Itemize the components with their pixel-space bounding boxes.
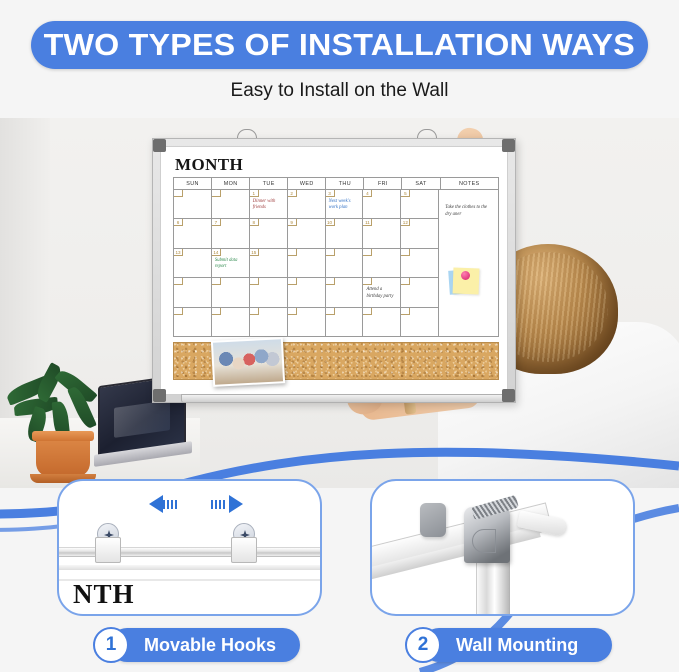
calendar-weeks: 1Dinner with friends23Next week's work p… [174,190,439,336]
movable-hook-left [95,523,121,563]
calendar-day-cell[interactable] [288,308,326,336]
calendar-day-cell[interactable]: 3Next week's work plan [326,190,364,218]
calendar-body: 1Dinner with friends23Next week's work p… [173,190,499,337]
pinned-family-photo [211,337,285,387]
calendar-grid: SUN MON TUE WED THU FRI SAT NOTES 1Dinne… [173,177,499,337]
day-number [363,308,372,315]
calendar-day-cell[interactable] [250,278,288,306]
day-number: 15 [250,249,259,256]
notes-text: Take the clothes to the dry aner [445,204,494,218]
calendar-day-cell[interactable] [401,308,439,336]
arrow-right-icon [229,495,243,513]
calendar-day-cell[interactable] [174,190,212,218]
hook-body [95,537,121,563]
panel-number-1: 1 [93,627,129,663]
day-number: 2 [288,190,297,197]
day-number [401,278,410,285]
frame-corner [502,139,515,152]
calendar-week-row: 1Dinner with friends23Next week's work p… [174,190,439,219]
calendar-day-cell[interactable] [326,308,364,336]
day-number: 4 [363,190,372,197]
calendar-day-cell[interactable]: 11 [363,219,401,247]
calendar-day-cell[interactable] [174,278,212,306]
calendar-day-cell[interactable] [326,278,364,306]
calendar-week-row: Attend a birthday party [174,278,439,307]
calendar-day-cell[interactable]: 6 [174,219,212,247]
day-header-fri: FRI [364,178,402,189]
calendar-day-cell[interactable] [401,278,439,306]
callout-panel-movable-hooks: NTH [57,479,322,616]
calendar-day-cell[interactable] [401,249,439,277]
frame-corner [153,389,166,402]
day-number [174,278,183,285]
hanging-hook-icon [417,129,437,138]
calendar-day-cell[interactable] [288,278,326,306]
frame-corner [153,139,166,152]
calendar-day-cell[interactable]: 12 [401,219,439,247]
day-header-tue: TUE [250,178,288,189]
day-number: 9 [288,219,297,226]
calendar-day-cell[interactable]: 10 [326,219,364,247]
day-number: 5 [401,190,410,197]
arrow-right-tail-icon [211,500,227,509]
hanging-hook-icon [237,129,257,138]
day-number: 11 [363,219,372,226]
day-number [174,190,183,197]
day-number [288,249,297,256]
day-number [288,278,297,285]
notes-header: NOTES [441,178,498,189]
callout-panel-wall-mounting [370,479,635,616]
calendar-day-cell[interactable] [288,249,326,277]
calendar-day-cell[interactable] [174,308,212,336]
panel-label-text-2: Wall Mounting [456,635,578,656]
day-number: 10 [326,219,335,226]
cork-board-strip [173,342,499,380]
calendar-week-row: 6789101112 [174,219,439,248]
aluminum-rail-secondary [57,565,322,570]
day-header-sun: SUN [174,178,212,189]
day-number [401,249,410,256]
calendar-day-cell[interactable]: Attend a birthday party [363,278,401,306]
day-number [363,249,372,256]
calendar-week-row: 1314Submit data report15 [174,249,439,278]
header-banner: TWO TYPES OF INSTALLATION WAYS [31,21,648,69]
day-number [326,308,335,315]
arrow-left-tail-icon [163,500,179,509]
month-heading: MONTH [175,155,243,175]
day-number [288,308,297,315]
day-number: 7 [212,219,221,226]
sticky-notes [449,268,481,298]
day-header-sat: SAT [402,178,440,189]
calendar-week-row [174,308,439,336]
day-number [363,278,372,285]
calendar-header-row: SUN MON TUE WED THU FRI SAT NOTES [173,177,499,190]
panel-label-1: 1 Movable Hooks [110,628,300,662]
day-header-mon: MON [212,178,250,189]
calendar-event-text: Attend a birthday party [366,287,398,300]
day-number [174,308,183,315]
pen-tray [181,394,505,403]
calendar-day-cell[interactable]: 9 [288,219,326,247]
panel-label-text-1: Movable Hooks [144,635,276,656]
frame-corner [502,389,515,402]
calendar-day-cell[interactable]: 4 [363,190,401,218]
whiteboard-surface: MONTH SUN MON TUE WED THU FRI SAT NOTES [160,146,508,395]
calendar-day-cell[interactable] [212,278,250,306]
calendar-event-text: Dinner with friends [253,199,285,212]
day-number [401,308,410,315]
whiteboard-calendar: MONTH SUN MON TUE WED THU FRI SAT NOTES [152,138,516,403]
calendar-day-cell[interactable]: 13 [174,249,212,277]
day-number: 14 [212,249,221,256]
calendar-day-cell[interactable] [212,190,250,218]
day-number [250,308,259,315]
day-number [326,249,335,256]
calendar-day-cell[interactable] [326,249,364,277]
infographic-root: TWO TYPES OF INSTALLATION WAYS Easy to I… [0,0,679,672]
calendar-day-cell[interactable]: 2 [288,190,326,218]
arrow-left-icon [149,495,163,513]
calendar-day-cell[interactable]: 1Dinner with friends [250,190,288,218]
panel-number-2: 2 [405,627,441,663]
calendar-day-cell[interactable]: 7 [212,219,250,247]
calendar-event-text: Submit data report [215,258,247,271]
terracotta-pot [36,431,90,477]
panel-label-2: 2 Wall Mounting [422,628,612,662]
day-header-wed: WED [288,178,326,189]
movable-hook-right [231,523,257,563]
notes-column: Take the clothes to the dry aner [439,190,498,336]
day-number: 13 [174,249,183,256]
wall-anchor-plate [420,503,446,537]
day-number: 3 [326,190,335,197]
calendar-event-text: Next week's work plan [329,199,361,212]
calendar-day-cell[interactable] [363,249,401,277]
day-number: 8 [250,219,259,226]
hook-body [231,537,257,563]
day-number [212,308,221,315]
day-number: 12 [401,219,410,226]
day-number: 1 [250,190,259,197]
whiteboard-frame: MONTH SUN MON TUE WED THU FRI SAT NOTES [152,138,516,403]
calendar-day-cell[interactable] [363,308,401,336]
day-header-thu: THU [326,178,364,189]
calendar-day-cell[interactable] [212,308,250,336]
day-number [326,278,335,285]
day-number: 6 [174,219,183,226]
calendar-day-cell[interactable]: 5 [401,190,439,218]
day-number [212,190,221,197]
calendar-day-cell[interactable]: 15 [250,249,288,277]
board-watermark-text: NTH [73,579,135,610]
page-subtitle: Easy to Install on the Wall [0,80,679,102]
calendar-day-cell[interactable]: 14Submit data report [212,249,250,277]
day-number [212,278,221,285]
product-scene: MONTH SUN MON TUE WED THU FRI SAT NOTES [0,118,679,488]
page-title: TWO TYPES OF INSTALLATION WAYS [44,27,635,63]
photo-image [213,339,283,385]
mounting-post [476,555,510,616]
day-number [250,278,259,285]
calendar-day-cell[interactable]: 8 [250,219,288,247]
calendar-day-cell[interactable] [250,308,288,336]
